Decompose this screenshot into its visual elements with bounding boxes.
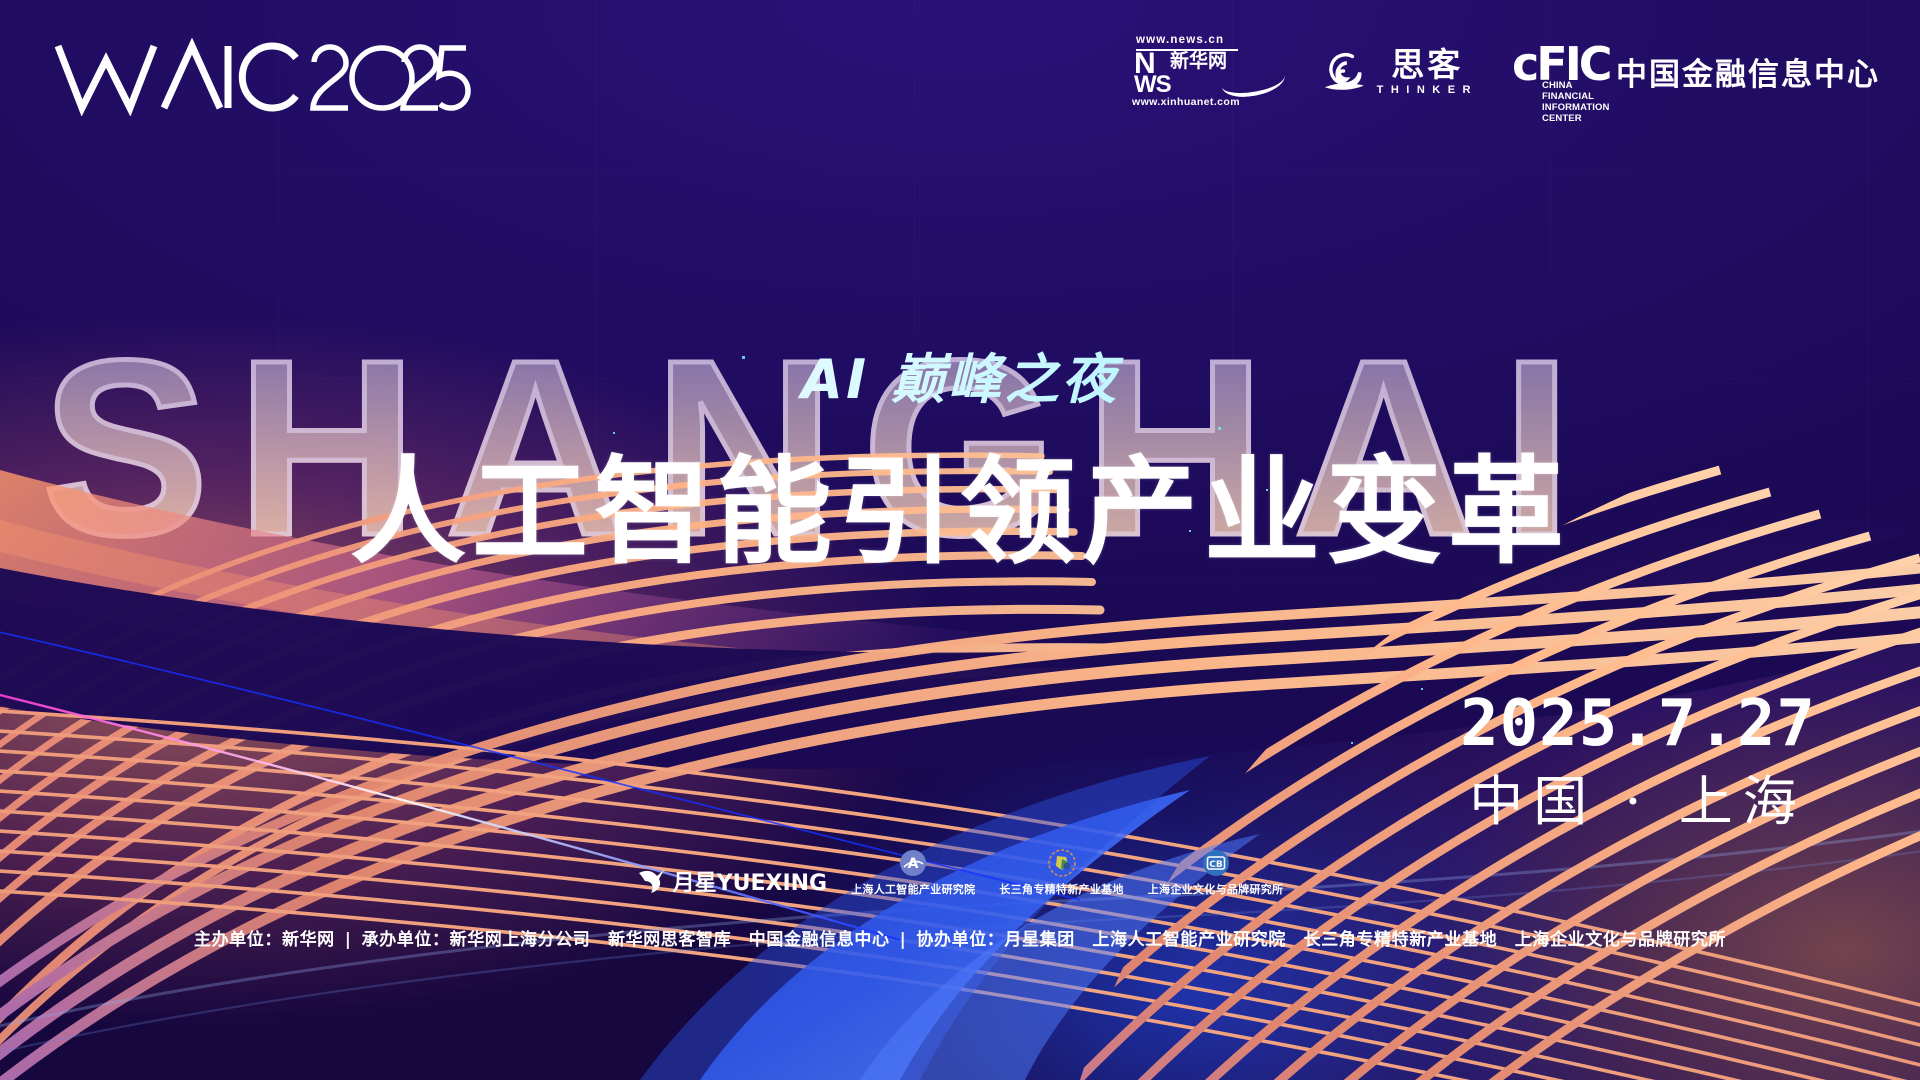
thinker-chinese-name: 思客 xyxy=(1391,47,1463,83)
cfic-english-line-2: INFORMATION CENTER xyxy=(1542,102,1609,124)
svg-text:A: A xyxy=(908,856,919,872)
shanghai-enterprise-culture-seal-icon: CB xyxy=(1201,848,1231,878)
sponsor-logo-shanghai-enterprise-culture-institute: CB 上海企业文化与品牌研究所 xyxy=(1148,848,1284,897)
cfic-english-line-1: CHINA FINANCIAL xyxy=(1542,80,1609,102)
xinhua-chinese-name: 新华网 xyxy=(1170,50,1236,72)
yuexing-star-icon xyxy=(637,867,667,895)
yangtze-delta-base-name: 长三角专精特新产业基地 xyxy=(999,881,1123,897)
event-location: 中国 · 上海 xyxy=(1448,772,1828,832)
shanghai-ai-institute-globe-icon: A xyxy=(898,848,928,878)
shanghai-enterprise-culture-name: 上海企业文化与品牌研究所 xyxy=(1148,881,1284,897)
credits-host-label: 主办单位： xyxy=(194,930,282,950)
waic-2025-logo xyxy=(52,38,472,116)
yangtze-delta-base-emblem-icon xyxy=(1047,848,1077,878)
partner-logo-row: www.news.cn N WS 新华网 www.xinhuanet.com 思… xyxy=(1110,34,1880,108)
sponsor-logo-yangtze-delta-base: 长三角专精特新产业基地 xyxy=(999,848,1123,897)
credits-organizer-values: 新华网上海分公司 新华网思客智库 中国金融信息中心 xyxy=(450,930,890,950)
event-date: 2025.7.27 xyxy=(1448,690,1828,758)
partner-logo-thinker: 思客 THINKER xyxy=(1320,37,1478,105)
event-headline: 人工智能引领产业变革 xyxy=(0,418,1920,586)
credits-host-value: 新华网 xyxy=(282,930,335,950)
cfic-chinese-name: 中国金融信息中心 xyxy=(1616,49,1880,94)
credits-coorganizer-values: 月星集团 上海人工智能产业研究院 长三角专精特新产业基地 上海企业文化与品牌研究… xyxy=(1004,930,1726,950)
yuexing-chinese-name: 月星 xyxy=(673,871,717,896)
credits-separator-2: | xyxy=(890,930,917,950)
event-date-block: 2025.7.27 中国 · 上海 xyxy=(1448,690,1828,832)
sponsor-logo-shanghai-ai-industry-institute: A 上海人工智能产业研究院 xyxy=(851,848,975,897)
svg-text:CB: CB xyxy=(1209,860,1223,870)
thinker-english-name: THINKER xyxy=(1377,84,1478,96)
event-subtitle: AI 巅峰之夜 xyxy=(0,335,1920,414)
credits-separator-1: | xyxy=(335,930,362,950)
partner-logo-cfic: cFIC CHINA FINANCIAL INFORMATION CENTER … xyxy=(1512,40,1880,102)
thinker-swirl-icon xyxy=(1320,44,1369,98)
credits-organizer-label: 承办单位： xyxy=(362,930,450,950)
credits-line: 主办单位：新华网|承办单位：新华网上海分公司 新华网思客智库 中国金融信息中心|… xyxy=(0,925,1920,950)
yuexing-english-name: YUEXING xyxy=(717,871,827,896)
cfic-english-name: CHINA FINANCIAL INFORMATION CENTER xyxy=(1542,80,1609,124)
yuexing-wordmark: 月星YUEXING xyxy=(673,865,827,897)
sponsor-logo-yuexing: 月星YUEXING xyxy=(637,865,827,897)
partner-logo-xinhua-news: www.news.cn N WS 新华网 www.xinhuanet.com xyxy=(1110,34,1286,108)
xinhua-letter-ws: WS xyxy=(1134,74,1171,96)
xinhua-url-bottom: www.xinhuanet.com xyxy=(1132,96,1240,108)
sponsor-logo-strip: 月星YUEXING A 上海人工智能产业研究院 xyxy=(0,848,1920,897)
shanghai-ai-institute-name: 上海人工智能产业研究院 xyxy=(851,881,975,897)
poster-canvas: SHANGHAI xyxy=(0,0,1920,1080)
xinhua-url-top: www.news.cn xyxy=(1136,34,1224,46)
credits-coorganizer-label: 协办单位： xyxy=(916,930,1004,950)
